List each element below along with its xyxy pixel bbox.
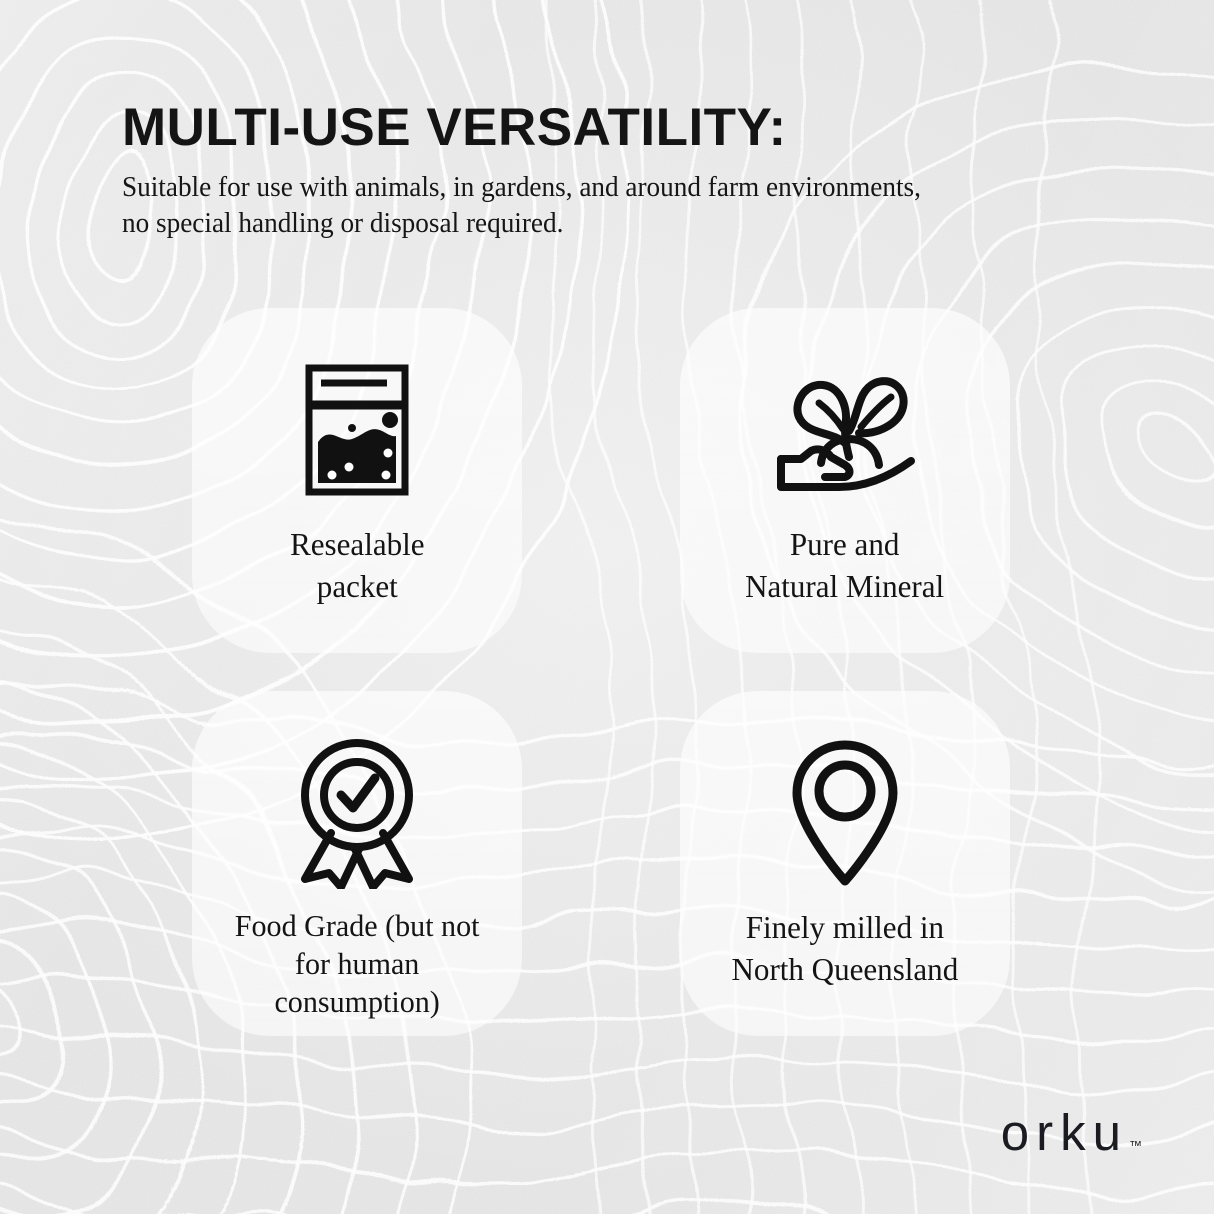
map-pin-icon <box>789 729 901 897</box>
feature-card-label: Finely milled in North Queensland <box>726 907 964 990</box>
feature-card-finely-milled: Finely milled in North Queensland <box>680 691 1010 1036</box>
brand-logo: orku ™ <box>1001 1107 1142 1158</box>
resealable-packet-icon <box>304 346 410 514</box>
feature-card-grid: Resealable packet <box>192 308 1022 1038</box>
feature-card-pure-natural-mineral: Pure and Natural Mineral <box>680 308 1010 653</box>
header-block: MULTI-USE VERSATILITY: Suitable for use … <box>122 100 1102 242</box>
feature-card-food-grade: Food Grade (but not for human consumptio… <box>192 691 522 1036</box>
feature-card-resealable-packet: Resealable packet <box>192 308 522 653</box>
page-title: MULTI-USE VERSATILITY: <box>122 100 1102 156</box>
page-subtitle: Suitable for use with animals, in garden… <box>122 170 1058 242</box>
feature-card-label: Pure and Natural Mineral <box>740 524 951 607</box>
feature-card-label: Resealable packet <box>284 524 430 607</box>
trademark-symbol: ™ <box>1129 1138 1142 1153</box>
hand-holding-sprout-icon <box>773 346 917 514</box>
promo-graphic: MULTI-USE VERSATILITY: Suitable for use … <box>0 0 1214 1214</box>
award-ribbon-check-icon <box>289 729 425 897</box>
feature-card-label: Food Grade (but not for human consumptio… <box>229 907 485 1020</box>
brand-logo-wordmark: orku <box>1001 1107 1128 1158</box>
